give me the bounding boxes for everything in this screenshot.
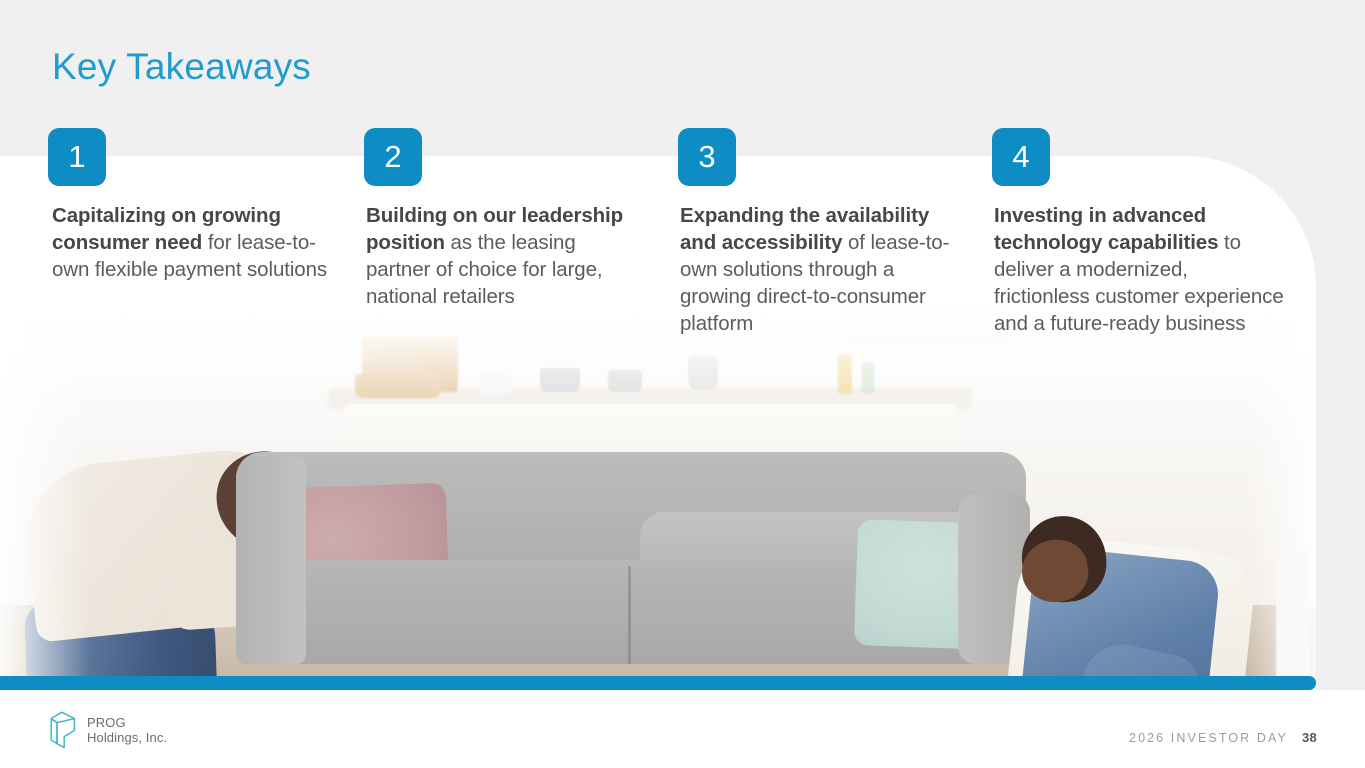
takeaway-badge-2: 2 — [364, 128, 422, 186]
accent-bar — [0, 676, 1316, 690]
footer-meta: 2026 INVESTOR DAY 38 — [1129, 730, 1317, 745]
takeaway-text-4: Investing in advanced technology capabil… — [994, 202, 1286, 337]
takeaway-text-3: Expanding the availability and accessibi… — [680, 202, 968, 337]
prog-p-logo-icon — [48, 710, 78, 750]
takeaway-text-1: Capitalizing on growing consumer need fo… — [52, 202, 348, 283]
takeaway-badge-3-label: 3 — [698, 141, 715, 172]
page-number: 38 — [1302, 730, 1317, 745]
takeaway-badge-4-label: 4 — [1012, 141, 1029, 172]
takeaway-badge-2-label: 2 — [384, 141, 401, 172]
takeaway-text-4-bold: Investing in advanced technology capabil… — [994, 204, 1218, 254]
slide-footer — [0, 690, 1365, 768]
brand-name-line2: Holdings, Inc. — [87, 730, 167, 746]
brand-logo-text: PROG Holdings, Inc. — [87, 715, 167, 746]
brand-name-line1: PROG — [87, 715, 167, 731]
page-title: Key Takeaways — [52, 46, 311, 88]
slide-key-takeaways: Key Takeaways — [0, 0, 1365, 768]
takeaway-badge-4: 4 — [992, 128, 1050, 186]
takeaway-text-2: Building on our leadership position as t… — [366, 202, 634, 310]
takeaway-badge-3: 3 — [678, 128, 736, 186]
takeaway-badge-1-label: 1 — [68, 141, 85, 172]
brand-logo: PROG Holdings, Inc. — [48, 710, 167, 750]
takeaway-badge-1: 1 — [48, 128, 106, 186]
deck-label: 2026 INVESTOR DAY — [1129, 731, 1288, 745]
